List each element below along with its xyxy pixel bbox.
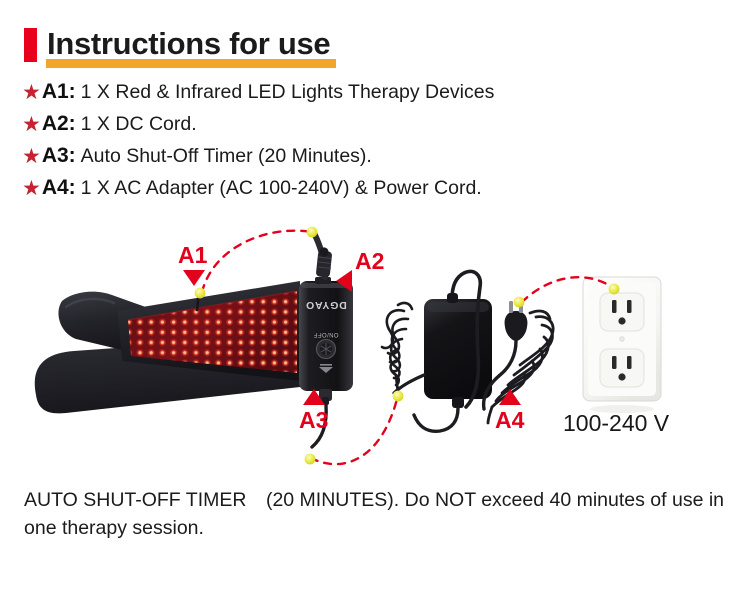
star-icon: ★ bbox=[22, 146, 41, 167]
controller-brand-label: DGYAO bbox=[305, 299, 347, 311]
triangle-up-icon bbox=[303, 389, 325, 405]
dot-dc-plug bbox=[307, 227, 318, 238]
callout-a1-label: A1 bbox=[178, 244, 207, 267]
dot-outlet bbox=[609, 284, 620, 295]
star-icon: ★ bbox=[22, 82, 41, 103]
controller-box: DGYAO ON/OFF bbox=[299, 277, 353, 405]
list-item: ★ A3: Auto Shut-Off Timer (20 Minutes). bbox=[22, 140, 732, 172]
spec-code: A4: bbox=[42, 176, 76, 200]
spec-code: A2: bbox=[42, 112, 76, 136]
spec-code: A1: bbox=[42, 80, 76, 104]
dot-belt-port bbox=[195, 288, 206, 299]
spec-text: Auto Shut-Off Timer (20 Minutes). bbox=[81, 145, 372, 168]
led-therapy-belt bbox=[35, 281, 300, 413]
star-icon: ★ bbox=[22, 114, 41, 135]
footer-note: AUTO SHUT-OFF TIMER (20 MINUTES). Do NOT… bbox=[24, 486, 730, 542]
dot-ac-plug bbox=[514, 297, 525, 308]
wall-outlet bbox=[583, 277, 661, 413]
dot-controller-cord-end bbox=[305, 454, 316, 465]
callout-a4-label: A4 bbox=[495, 409, 524, 432]
triangle-left-icon bbox=[336, 270, 352, 292]
title-accent-bar bbox=[24, 28, 37, 62]
spec-text: 1 X Red & Infrared LED Lights Therapy De… bbox=[81, 81, 495, 104]
ac-adapter-brick bbox=[394, 271, 492, 431]
list-item: ★ A4: 1 X AC Adapter (AC 100-240V) & Pow… bbox=[22, 172, 732, 204]
triangle-down-icon bbox=[183, 270, 205, 286]
dc-cord bbox=[314, 233, 332, 278]
dc-cord-bundle bbox=[382, 303, 412, 393]
list-item: ★ A2: 1 X DC Cord. bbox=[22, 108, 732, 140]
dot-dc-bundle-end bbox=[393, 391, 404, 402]
page-header: Instructions for use bbox=[24, 26, 724, 70]
spec-code: A3: bbox=[42, 144, 76, 168]
spec-text: 1 X AC Adapter (AC 100-240V) & Power Cor… bbox=[81, 177, 482, 200]
list-item: ★ A1: 1 X Red & Infrared LED Lights Ther… bbox=[22, 76, 732, 108]
page-title: Instructions for use bbox=[47, 26, 330, 62]
triangle-up-icon bbox=[499, 389, 521, 405]
star-icon: ★ bbox=[22, 178, 41, 199]
callout-a2-label: A2 bbox=[355, 250, 384, 273]
spec-text: 1 X DC Cord. bbox=[81, 113, 197, 136]
callout-a3-label: A3 bbox=[299, 409, 328, 432]
voltage-label: 100-240 V bbox=[563, 410, 669, 437]
spec-list: ★ A1: 1 X Red & Infrared LED Lights Ther… bbox=[22, 76, 732, 204]
controller-switch-label: ON/OFF bbox=[313, 331, 338, 337]
